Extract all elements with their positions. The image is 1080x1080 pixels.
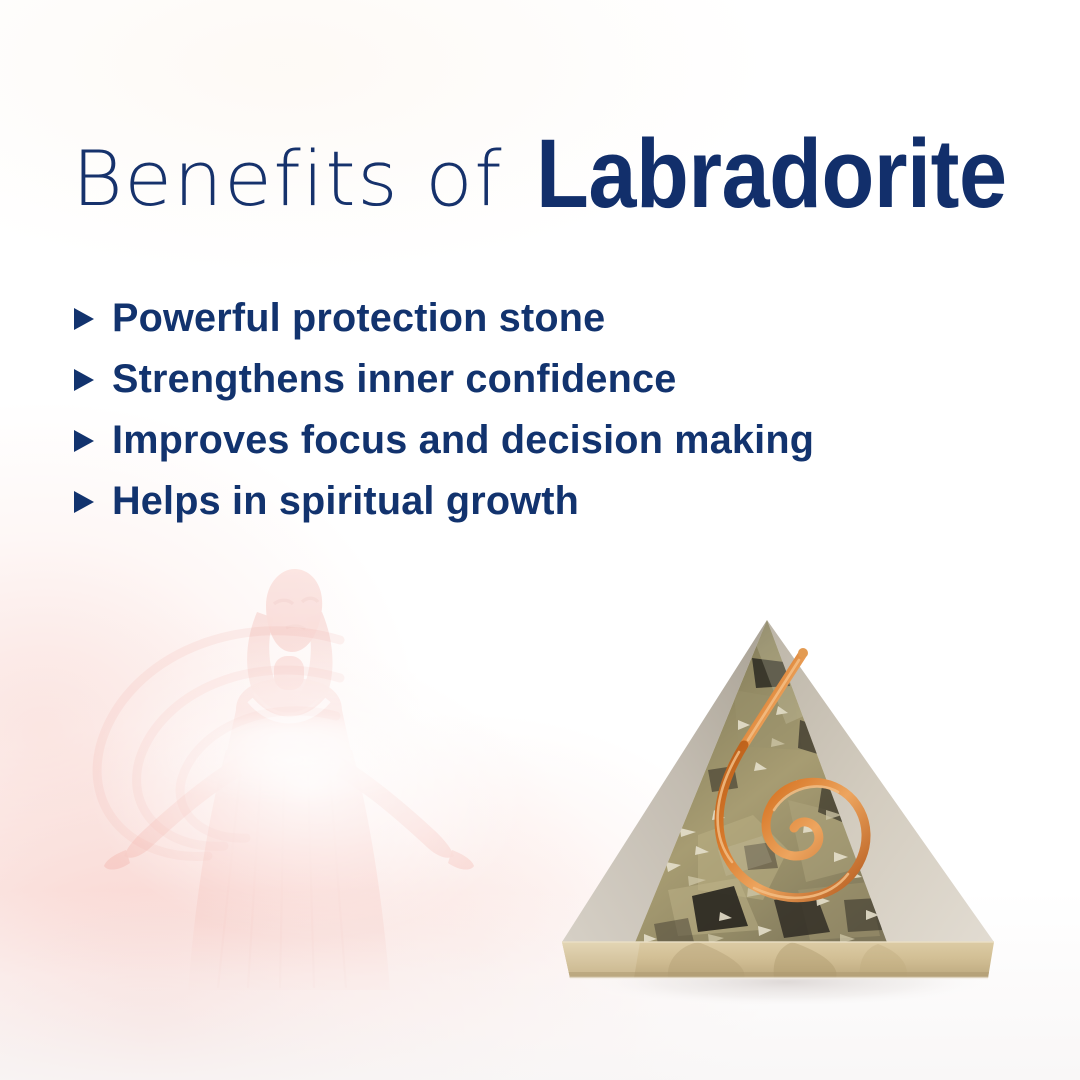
list-item: Helps in spiritual growth [74,471,821,532]
title-light-text: Benefits of [72,141,503,217]
page-title: Benefits of Labradorite [72,128,1021,220]
triangle-right-icon [74,368,96,392]
list-item: Powerful protection stone [74,288,821,349]
benefit-label: Helps in spiritual growth [112,479,579,524]
list-item: Strengthens inner confidence [74,349,821,410]
benefit-label: Strengthens inner confidence [112,357,676,402]
benefit-label: Powerful protection stone [112,296,605,341]
benefit-label: Improves focus and decision making [112,418,814,463]
benefits-list: Powerful protection stone Strengthens in… [74,288,821,532]
energy-swirl-icon [40,600,370,900]
title-bold-text: Labradorite [536,125,1007,223]
triangle-right-icon [74,490,96,514]
triangle-right-icon [74,307,96,331]
poster-canvas: Benefits of Labradorite Powerful protect… [0,0,1080,1080]
background-floor-gradient [0,890,1080,1080]
list-item: Improves focus and decision making [74,410,821,471]
triangle-right-icon [74,429,96,453]
